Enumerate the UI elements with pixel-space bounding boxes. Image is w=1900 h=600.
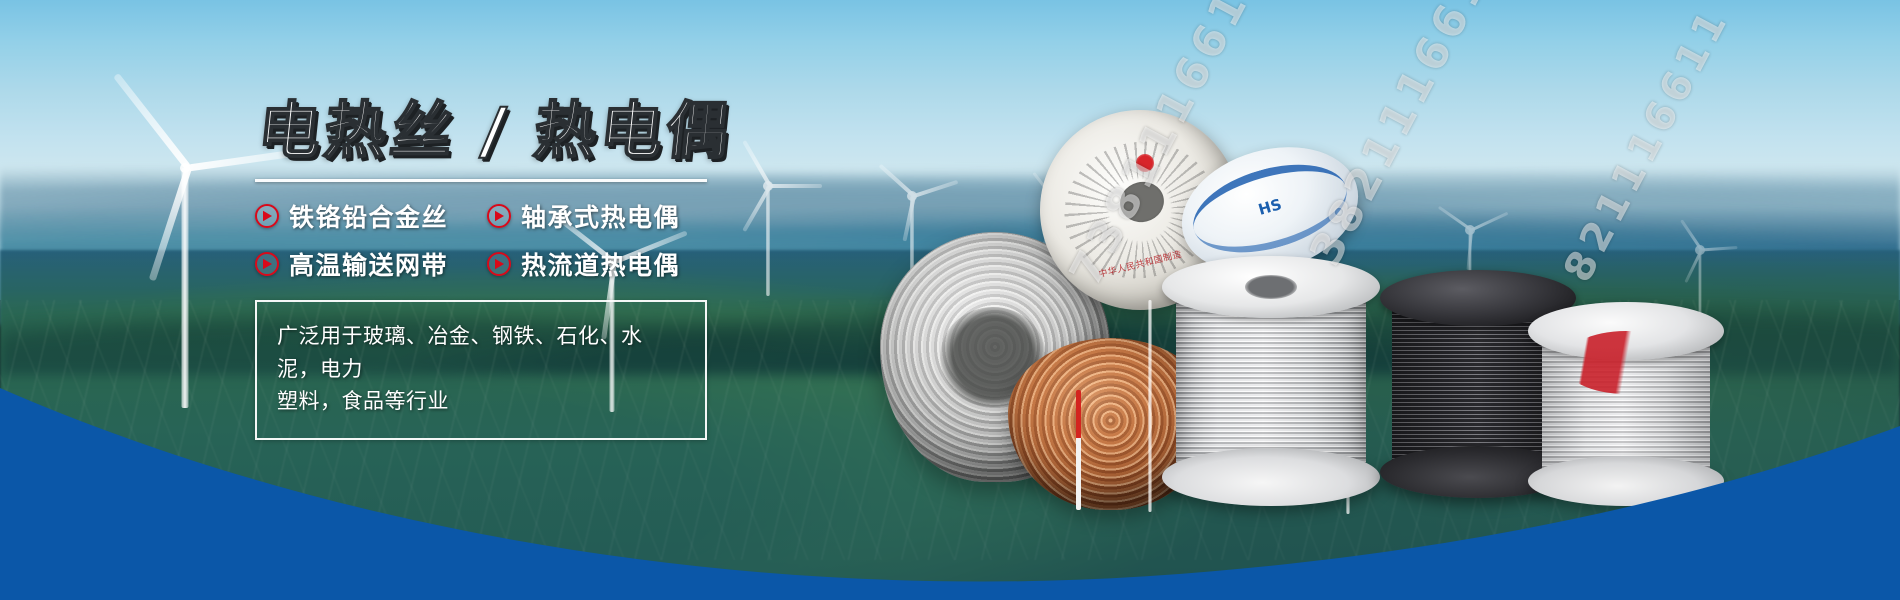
feature-item[interactable]: 热流道热电偶 <box>487 246 719 282</box>
feature-list: 铁铬铅合金丝 轴承式热电偶 高温输送网带 <box>255 198 725 282</box>
feature-item[interactable]: 高温输送网带 <box>255 246 487 282</box>
feature-label: 热流道热电偶 <box>521 246 680 282</box>
banner-title: 电热丝 / 热电偶 <box>255 98 732 163</box>
feature-item[interactable]: 铁铬铅合金丝 <box>255 198 487 234</box>
feature-label: 轴承式热电偶 <box>521 198 680 234</box>
turbine-blade <box>770 184 822 188</box>
turbine-mast <box>766 186 770 296</box>
turbine-hub <box>763 181 773 191</box>
title-divider <box>255 179 707 182</box>
play-arrow-icon <box>487 252 511 276</box>
play-arrow-icon <box>255 252 279 276</box>
bottom-wave-shape <box>0 340 1900 600</box>
feature-label: 高温输送网带 <box>289 246 448 282</box>
turbine-hub <box>180 163 190 173</box>
feature-item[interactable]: 轴承式热电偶 <box>487 198 719 234</box>
play-arrow-icon <box>487 204 511 228</box>
feature-label: 铁铬铅合金丝 <box>289 198 448 234</box>
play-arrow-icon <box>255 204 279 228</box>
spool-top-flange <box>1162 256 1380 318</box>
promo-banner: 中华人民共和国制造 HS 7381116611 382 <box>0 0 1900 600</box>
label-emblem <box>1136 154 1154 172</box>
